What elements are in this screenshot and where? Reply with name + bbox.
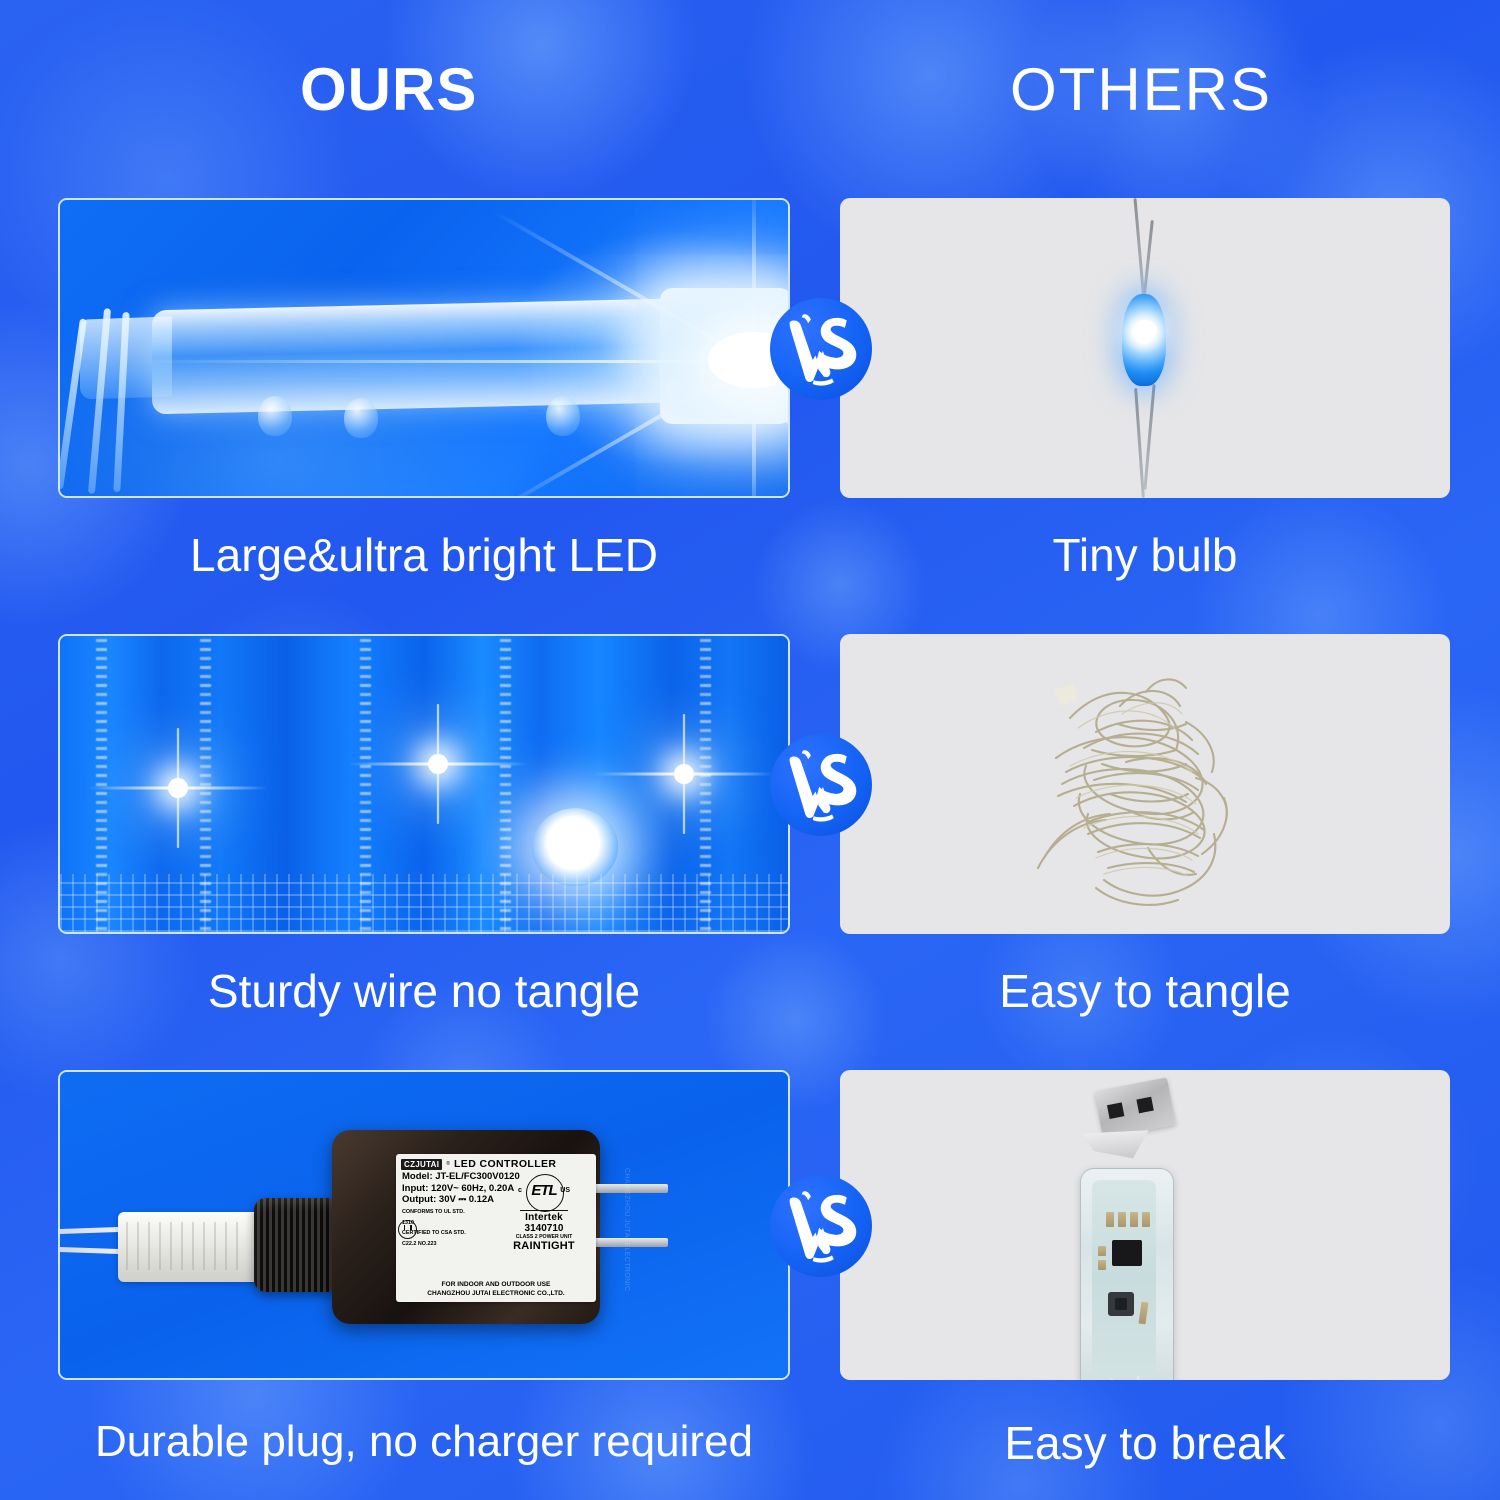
ours-image-panel-curtain-lights xyxy=(58,634,790,934)
comparison-infographic: OURS OTHERS xyxy=(0,0,1500,1500)
led-bulb-photo xyxy=(60,200,788,496)
ours-caption-row-3: Durable plug, no charger required xyxy=(58,1420,790,1464)
label-usage-1: FOR INDOOR AND OUTDOOR USE xyxy=(396,1281,596,1290)
led-star-flare xyxy=(674,764,694,784)
vs-brushstroke-icon xyxy=(775,739,867,831)
plug-prong xyxy=(594,1238,668,1247)
registered-mark: ® xyxy=(446,1161,450,1167)
ours-image-panel-plug: CHANGZHOU JUTAI ELECTRONIC CZJUTAI ® LED… xyxy=(58,1070,790,1380)
light-ray xyxy=(134,360,754,363)
label-title: LED CONTROLLER xyxy=(454,1158,556,1170)
plug-prong xyxy=(594,1184,668,1193)
curtain-lights-photo xyxy=(60,636,788,932)
etl-us-suffix: US xyxy=(560,1187,570,1194)
led-star-flare xyxy=(168,778,188,798)
brand-name: CZJUTAI xyxy=(401,1159,442,1170)
others-image-panel-tiny-bulb xyxy=(840,198,1450,498)
bulb-lead-wire xyxy=(58,318,87,489)
label-title-row: CZJUTAI ® LED CONTROLLER xyxy=(396,1154,596,1171)
others-caption-row-2: Easy to tangle xyxy=(840,968,1450,1014)
etl-underline xyxy=(520,1210,568,1211)
others-caption-row-3: Easy to break xyxy=(840,1420,1450,1466)
usb-resistor xyxy=(1098,1246,1106,1256)
white-connector xyxy=(118,1212,264,1282)
usb-resistor xyxy=(1118,1212,1126,1227)
ours-caption-row-1: Large&ultra bright LED xyxy=(58,532,790,578)
usb-chip xyxy=(1112,1240,1142,1266)
vs-badge xyxy=(770,1175,872,1277)
intertek-number: 3140710 xyxy=(496,1223,592,1234)
usb-resistor xyxy=(1130,1212,1138,1227)
vs-brushstroke-icon xyxy=(775,303,867,395)
vs-brushstroke-icon xyxy=(775,1180,867,1272)
water-droplet xyxy=(344,398,378,438)
ours-image-panel-led-bulb xyxy=(58,198,790,498)
mesh-fabric xyxy=(60,874,788,932)
tiny-bulb-photo xyxy=(840,198,1450,498)
usb-connector-detached xyxy=(1094,1077,1176,1138)
usb-resistor xyxy=(1098,1260,1106,1270)
plug-spec-label: CZJUTAI ® LED CONTROLLER Model: JT-EL/FC… xyxy=(396,1154,596,1302)
plug-polarity-icon xyxy=(398,1220,417,1239)
usb-circuit-board xyxy=(1092,1180,1156,1376)
tiny-bulb-glass xyxy=(1122,294,1166,386)
tiny-bulb-wire xyxy=(1143,384,1155,490)
bulb-body xyxy=(152,298,712,415)
usb-resistor xyxy=(1142,1212,1150,1227)
usb-resistor xyxy=(1106,1212,1114,1227)
vs-badge xyxy=(770,734,872,836)
vs-badge xyxy=(770,298,872,400)
others-caption-row-1: Tiny bulb xyxy=(840,532,1450,578)
raintight-mark: RAINTIGHT xyxy=(496,1240,592,1252)
led-star-flare xyxy=(428,754,448,774)
column-header-ours: OURS xyxy=(300,60,477,120)
power-plug-photo: CHANGZHOU JUTAI ELECTRONIC CZJUTAI ® LED… xyxy=(60,1072,788,1378)
tangled-wire-photo xyxy=(840,634,1450,934)
broken-usb-photo xyxy=(840,1070,1450,1380)
others-image-panel-tangled-wire xyxy=(840,634,1450,934)
others-image-panel-broken-usb xyxy=(840,1070,1450,1380)
label-usage-block: FOR INDOOR AND OUTDOOR USE CHANGZHOU JUT… xyxy=(396,1281,596,1299)
plug-embossed-text: CHANGZHOU JUTAI ELECTRONIC xyxy=(612,1168,630,1294)
intertek-name: Intertek xyxy=(496,1212,592,1223)
usb-button-switch xyxy=(1108,1292,1134,1316)
label-usage-2: CHANGZHOU JUTAI ELECTRONIC CO.,LTD. xyxy=(396,1290,596,1299)
ours-caption-row-2: Sturdy wire no tangle xyxy=(58,968,790,1014)
bright-led-glow xyxy=(532,808,618,886)
knurled-locking-ring xyxy=(254,1198,340,1292)
water-droplet xyxy=(258,396,292,436)
usb-broken-shard xyxy=(1083,1127,1152,1164)
column-header-others: OTHERS xyxy=(1010,60,1272,120)
water-droplet xyxy=(546,396,580,436)
etl-mark: c ETL US xyxy=(518,1174,570,1210)
certification-block: c ETL US Intertek 3140710 CLASS 2 POWER … xyxy=(496,1174,592,1252)
tangled-wire-icon xyxy=(1000,662,1300,910)
tiny-bulb-glow-core xyxy=(1133,320,1157,340)
